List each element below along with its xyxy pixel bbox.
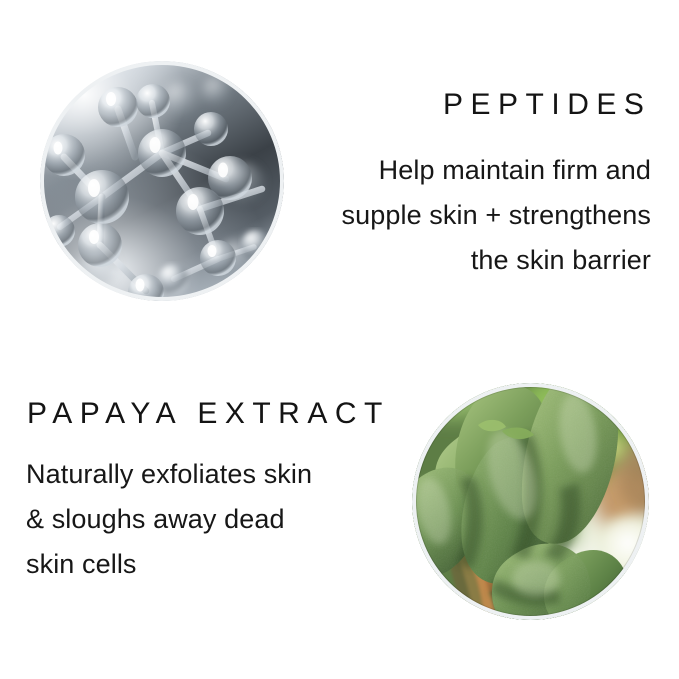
peptides-heading: PEPTIDES: [443, 90, 651, 120]
molecule-image-circle: [40, 61, 284, 301]
infographic-canvas: PEPTIDES Help maintain firm and supple s…: [0, 0, 679, 679]
papaya-description-line-2: & sloughs away dead: [26, 497, 398, 542]
peptides-description-line-3: the skin barrier: [251, 238, 651, 283]
papaya-description-line-1: Naturally exfoliates skin: [26, 452, 398, 497]
papaya-description: Naturally exfoliates skin & sloughs away…: [26, 452, 398, 587]
papaya-image-circle: [412, 383, 649, 620]
peptides-description: Help maintain firm and supple skin + str…: [251, 148, 651, 283]
peptides-description-line-2: supple skin + strengthens: [251, 193, 651, 238]
papaya-description-line-3: skin cells: [26, 542, 398, 587]
papaya-fruit-photo-icon: [412, 383, 649, 620]
molecule-illustration-icon: [40, 61, 284, 301]
peptides-description-line-1: Help maintain firm and: [251, 148, 651, 193]
molecule-image: [40, 61, 284, 301]
papaya-image: [412, 383, 649, 620]
papaya-heading: PAPAYA EXTRACT: [27, 399, 390, 429]
